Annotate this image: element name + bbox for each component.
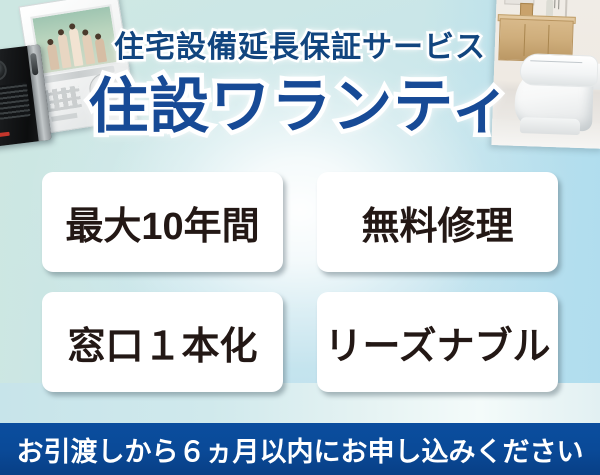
feature-box-grid: 最大10年間 無料修理 窓口１本化 リーズナブル: [42, 172, 558, 392]
cta-text: お引渡しから６ヵ月以内にお申し込みください: [17, 430, 584, 469]
headline-block: 住宅設備延長保証サービス 住設ワランティ: [0, 0, 600, 150]
feature-box-reasonable[interactable]: リーズナブル: [317, 292, 558, 392]
feature-label: 無料修理: [361, 195, 513, 250]
promo-banner: 住宅設備延長保証サービス 住設ワランティ 最大10年間 無料修理 窓口１本化 リ…: [0, 0, 600, 475]
feature-label: 最大10年間: [65, 195, 259, 250]
feature-label: リーズナブル: [324, 315, 550, 370]
feature-box-single-contact[interactable]: 窓口１本化: [42, 292, 283, 392]
feature-box-max-years[interactable]: 最大10年間: [42, 172, 283, 272]
feature-label: 窓口１本化: [67, 315, 257, 370]
cta-bar[interactable]: お引渡しから６ヵ月以内にお申し込みください: [0, 423, 600, 475]
feature-box-free-repair[interactable]: 無料修理: [317, 172, 558, 272]
banner-title: 住設ワランティ: [0, 58, 600, 145]
